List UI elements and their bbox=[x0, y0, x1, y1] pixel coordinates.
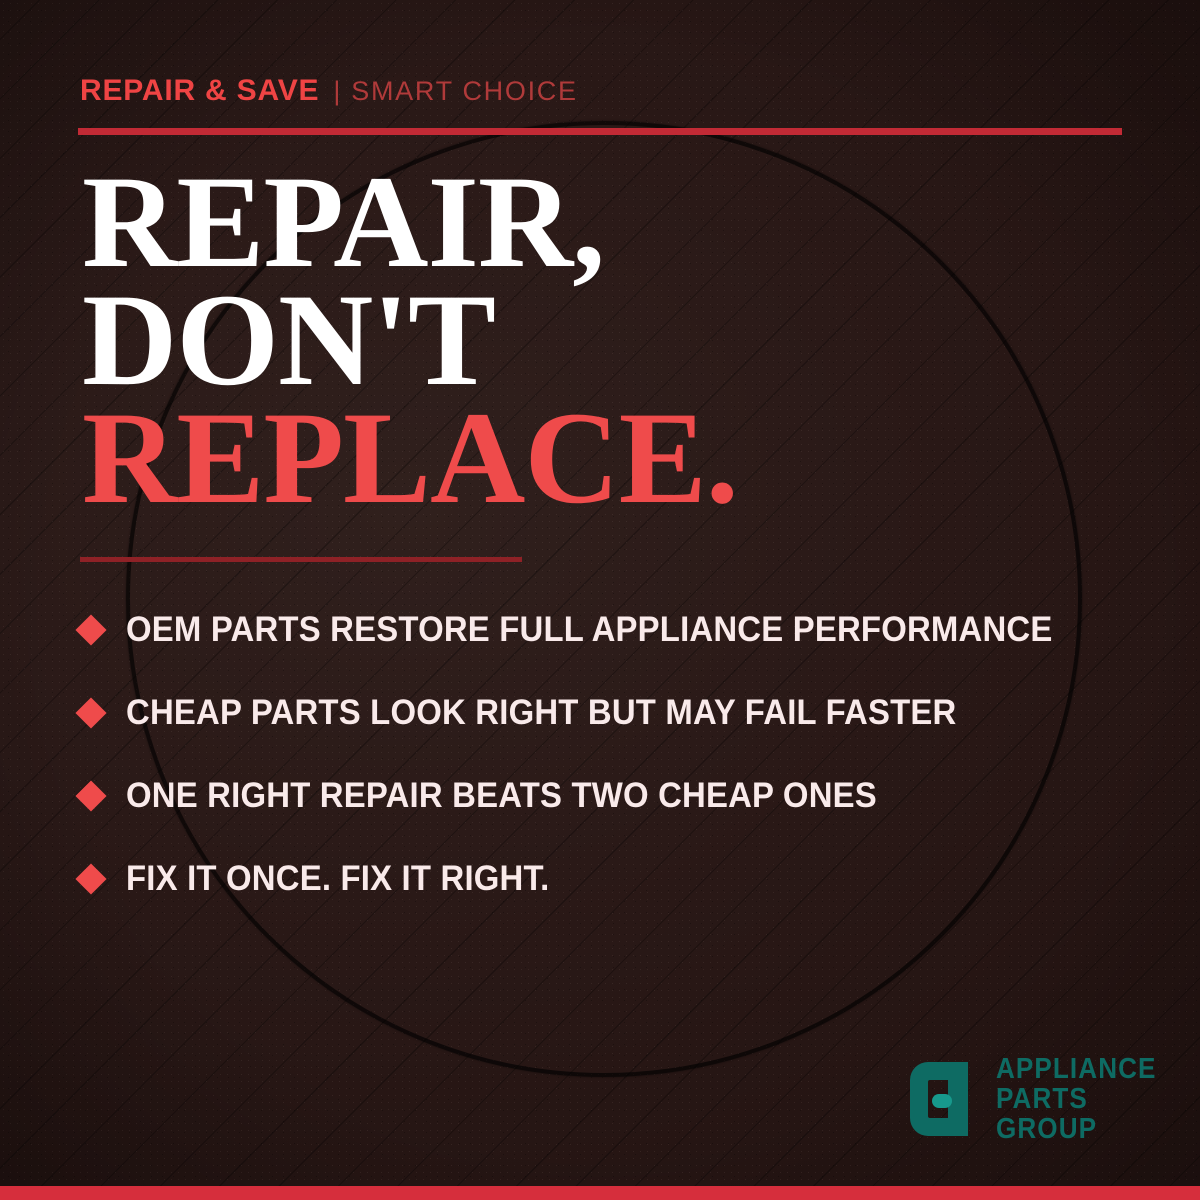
headline-line-1: REPAIR, bbox=[82, 163, 738, 281]
list-item-label: OEM PARTS RESTORE FULL APPLIANCE PERFORM… bbox=[126, 610, 1052, 650]
diamond-bullet-icon bbox=[75, 697, 106, 728]
list-item-label: CHEAP PARTS LOOK RIGHT BUT MAY FAIL FAST… bbox=[126, 693, 956, 733]
diamond-bullet-icon bbox=[75, 863, 106, 894]
eyebrow-header: REPAIR & SAVE | SMART CHOICE bbox=[80, 74, 578, 108]
logo-word-line-2: PARTS bbox=[996, 1084, 1157, 1114]
list-item: ONE RIGHT REPAIR BEATS TWO CHEAP ONES bbox=[80, 754, 1150, 837]
logo-g-monogram-icon bbox=[908, 1060, 982, 1138]
logo-word-line-1: APPLIANCE bbox=[996, 1054, 1157, 1084]
headline-line-3: REPLACE. bbox=[82, 399, 738, 517]
header-divider-rule bbox=[78, 128, 1122, 135]
diamond-bullet-icon bbox=[75, 614, 106, 645]
brand-logo: APPLIANCE PARTS GROUP bbox=[908, 1054, 1174, 1144]
list-item: CHEAP PARTS LOOK RIGHT BUT MAY FAIL FAST… bbox=[80, 671, 1150, 754]
bottom-accent-bar bbox=[0, 1186, 1200, 1200]
list-item-label: FIX IT ONCE. FIX IT RIGHT. bbox=[126, 859, 549, 899]
eyebrow-strong-label: REPAIR & SAVE bbox=[80, 74, 319, 108]
eyebrow-sub-label: | SMART CHOICE bbox=[333, 76, 577, 107]
logo-wordmark: APPLIANCE PARTS GROUP bbox=[996, 1054, 1174, 1144]
list-item: OEM PARTS RESTORE FULL APPLIANCE PERFORM… bbox=[80, 588, 1150, 671]
list-item: FIX IT ONCE. FIX IT RIGHT. bbox=[80, 837, 1150, 920]
headline-line-2: DON'T bbox=[82, 281, 738, 399]
diamond-bullet-icon bbox=[75, 780, 106, 811]
headline-underline-rule bbox=[80, 557, 522, 562]
benefits-list: OEM PARTS RESTORE FULL APPLIANCE PERFORM… bbox=[80, 588, 1150, 920]
logo-word-line-3: GROUP bbox=[996, 1114, 1157, 1144]
headline: REPAIR, DON'T REPLACE. bbox=[82, 163, 738, 517]
promo-poster: REPAIR & SAVE | SMART CHOICE REPAIR, DON… bbox=[0, 0, 1200, 1200]
list-item-label: ONE RIGHT REPAIR BEATS TWO CHEAP ONES bbox=[126, 776, 877, 816]
